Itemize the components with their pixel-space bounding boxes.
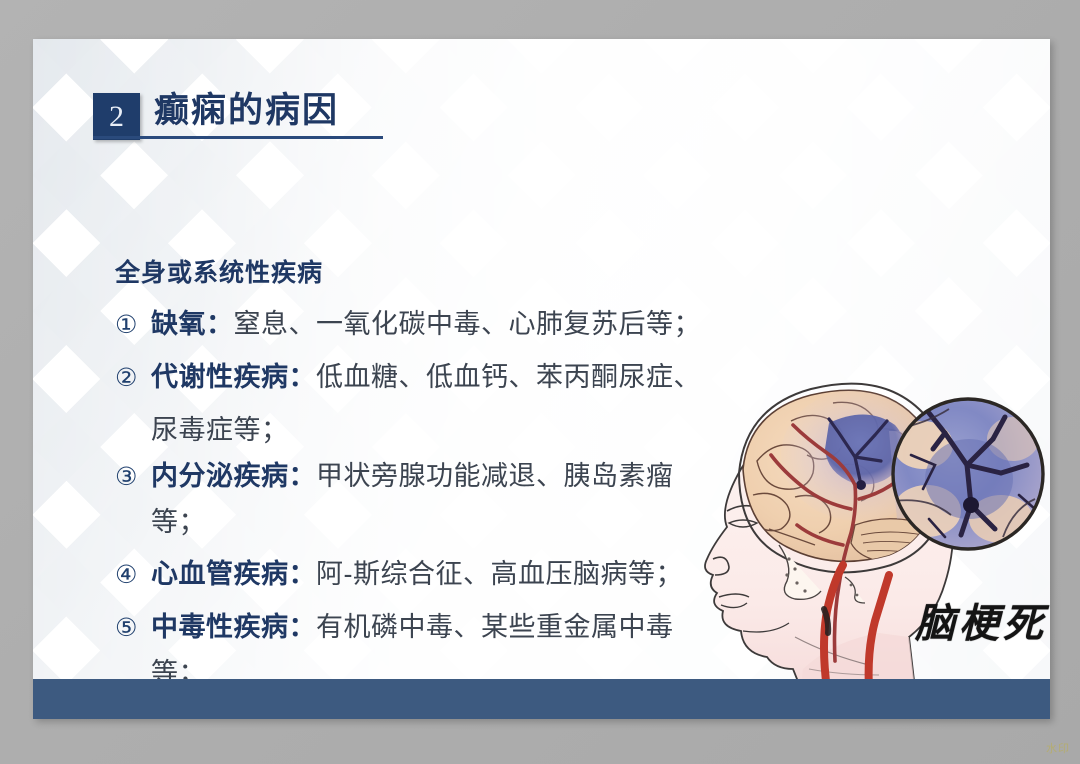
magnified-infarct-inset (893, 399, 1043, 549)
list-item-label: 缺氧： (151, 309, 234, 339)
list-item: ④ 心血管疾病：阿-斯综合征、高血压脑病等； (115, 551, 715, 598)
list-item-label: 内分泌疾病： (151, 461, 316, 491)
corner-watermark: 水印 (1046, 740, 1070, 756)
list-item-description: 阿-斯综合征、高血压脑病等； (316, 559, 683, 589)
page-title: 癫痫的病因 (154, 89, 383, 133)
illustration-caption: 脑梗死 (915, 591, 1047, 649)
title-text-wrapper: 癫痫的病因 (154, 89, 383, 140)
list-item-marker: ② (115, 355, 151, 401)
list-item-label: 心血管疾病： (151, 559, 316, 589)
list-item: ② 代谢性疾病：低血糖、低血钙、苯丙酮尿症、 (115, 354, 715, 401)
list-item-body: 代谢性疾病：低血糖、低血钙、苯丙酮尿症、 (151, 354, 701, 400)
list-item-marker: ① (115, 302, 151, 348)
list-item-body: 内分泌疾病：甲状旁腺功能减退、胰岛素瘤等； (151, 453, 715, 545)
list-item-marker: ④ (115, 552, 151, 598)
title-number-badge: 2 (93, 93, 140, 140)
list-item-description: 窒息、一氧化碳中毒、心肺复苏后等； (234, 309, 702, 339)
list-item-marker: ⑤ (115, 605, 151, 651)
slide-title-block: 2 癫痫的病因 (93, 89, 383, 140)
brain-infarction-illustration: 脑梗死 (683, 369, 1050, 689)
list-item: ① 缺氧：窒息、一氧化碳中毒、心肺复苏后等； (115, 301, 715, 348)
list-item: ③ 内分泌疾病：甲状旁腺功能减退、胰岛素瘤等； (115, 453, 715, 545)
list-item-label: 代谢性疾病： (151, 362, 316, 392)
title-underline (93, 136, 383, 139)
slide-footer-bar (33, 679, 1050, 719)
list-item-description: 低血糖、低血钙、苯丙酮尿症、 (316, 362, 701, 392)
list-item-body: 缺氧：窒息、一氧化碳中毒、心肺复苏后等； (151, 301, 701, 347)
slide-canvas: 2 癫痫的病因 全身或系统性疾病 ① 缺氧：窒息、一氧化碳中毒、心肺复苏后等； … (33, 39, 1050, 719)
list-item-continuation: 尿毒症等； (151, 407, 715, 453)
list-item-body: 心血管疾病：阿-斯综合征、高血压脑病等； (151, 551, 683, 597)
list-item-label: 中毒性疾病： (151, 612, 316, 642)
list-item-marker: ③ (115, 454, 151, 500)
content-area: 全身或系统性疾病 ① 缺氧：窒息、一氧化碳中毒、心肺复苏后等； ② 代谢性疾病：… (115, 253, 715, 719)
section-heading: 全身或系统性疾病 (115, 253, 715, 289)
